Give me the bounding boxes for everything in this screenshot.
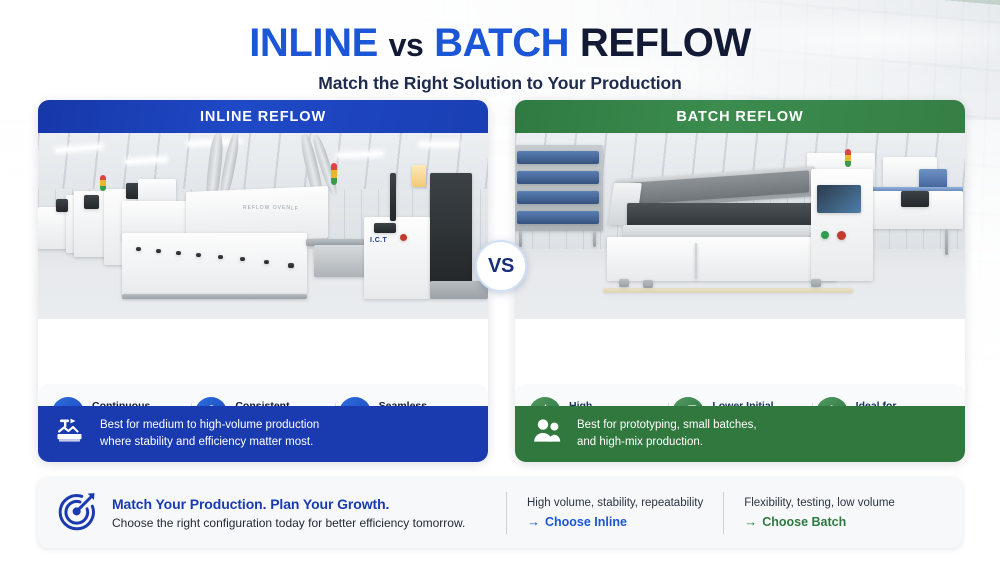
arrow-right-icon: →	[744, 514, 757, 529]
two-people-icon	[532, 417, 564, 452]
arrow-right-icon: →	[527, 514, 540, 529]
page-subtitle: Match the Right Solution to Your Product…	[0, 73, 1000, 94]
title-vs: vs	[389, 27, 424, 63]
panel-batch-header: BATCH REFLOW	[515, 100, 965, 133]
page-header: INLINE vs BATCH REFLOW Match the Right S…	[0, 0, 1000, 94]
panel-inline-photo: REFLOW OVEN LF I.C.T	[38, 133, 488, 319]
cta-headline: Match Your Production. Plan Your Growth.	[112, 496, 465, 512]
title-reflow: REFLOW	[580, 21, 751, 65]
ict-brand-label: I.C.T	[370, 237, 387, 244]
inline-footer-bar: Best for medium to high-volume productio…	[38, 406, 488, 462]
vs-badge: VS	[475, 240, 527, 292]
factory-scene-inline: REFLOW OVEN LF I.C.T	[38, 133, 488, 319]
panel-inline-reflow[interactable]: INLINE REFLOW	[38, 100, 488, 462]
batch-footer-bar: Best for prototyping, small batches, and…	[515, 406, 965, 462]
cta-left: Match Your Production. Plan Your Growth.…	[56, 490, 506, 537]
cta-text-block: Match Your Production. Plan Your Growth.…	[112, 496, 465, 530]
cta-bar: Match Your Production. Plan Your Growth.…	[38, 478, 962, 548]
choose-inline-label: Choose Inline	[545, 515, 627, 529]
cta-subtext: Choose the right configuration today for…	[112, 516, 465, 530]
page-title: INLINE vs BATCH REFLOW	[0, 22, 1000, 64]
target-arrow-icon	[56, 490, 98, 537]
cta-column-inline[interactable]: High volume, stability, repeatability → …	[507, 497, 723, 529]
choose-batch-link[interactable]: → Choose Batch	[744, 514, 895, 529]
batch-footer-text: Best for prototyping, small batches, and…	[577, 417, 757, 450]
conveyor-production-icon	[55, 417, 87, 452]
cta-column-batch[interactable]: Flexibility, testing, low volume → Choos…	[724, 497, 915, 529]
panel-inline-header: INLINE REFLOW	[38, 100, 488, 133]
cta-column-label: High volume, stability, repeatability	[527, 497, 703, 509]
cta-column-label: Flexibility, testing, low volume	[744, 497, 895, 509]
choose-inline-link[interactable]: → Choose Inline	[527, 514, 703, 529]
title-batch: BATCH	[434, 21, 569, 65]
panel-batch-reflow[interactable]: BATCH REFLOW	[515, 100, 965, 462]
factory-scene-batch	[515, 133, 965, 319]
choose-batch-label: Choose Batch	[762, 515, 846, 529]
title-inline: INLINE	[249, 21, 378, 65]
inline-footer-text: Best for medium to high-volume productio…	[100, 417, 319, 450]
panel-batch-photo	[515, 133, 965, 319]
